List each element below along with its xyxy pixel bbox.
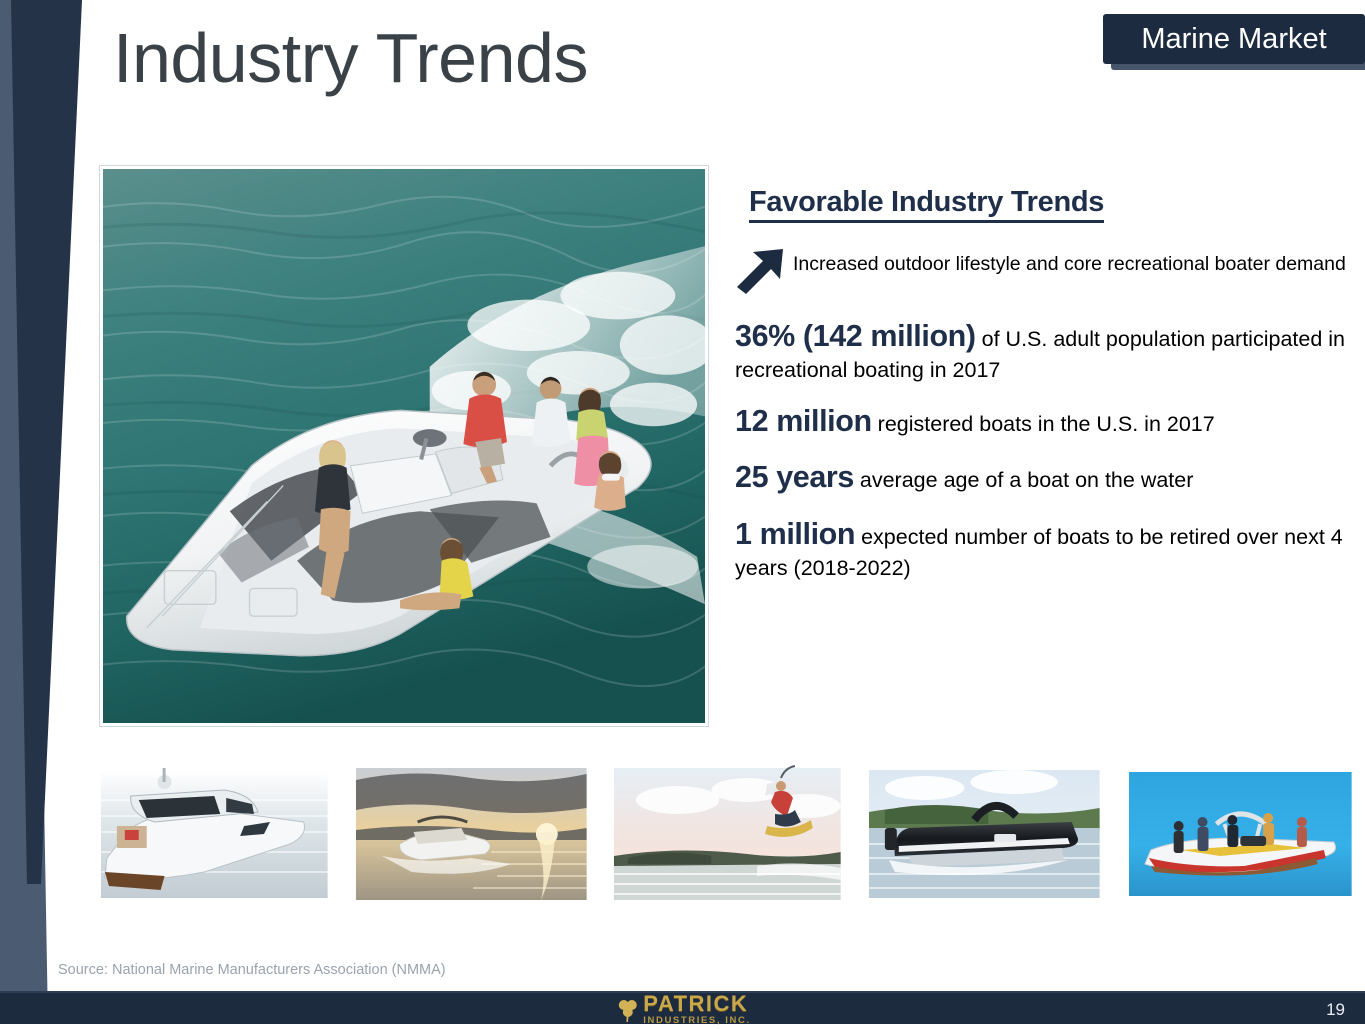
thumbnail-white-motor-yacht bbox=[95, 760, 334, 908]
marine-market-badge: Marine Market bbox=[1103, 14, 1365, 64]
stat-description: average age of a boat on the water bbox=[854, 468, 1193, 492]
logo-primary-text: PATRICK bbox=[643, 993, 750, 1015]
trend-callout: Increased outdoor lifestyle and core rec… bbox=[735, 245, 1360, 295]
stat-value: 12 million bbox=[735, 404, 872, 438]
footer-bar: PATRICK INDUSTRIES, INC. 19 bbox=[0, 991, 1365, 1024]
industry-trends-panel: Favorable Industry Trends Increased outd… bbox=[735, 186, 1360, 582]
shamrock-icon bbox=[614, 997, 640, 1023]
badge-label: Marine Market bbox=[1141, 25, 1326, 54]
stat-item: 25 years average age of a boat on the wa… bbox=[735, 458, 1360, 498]
arrow-up-right-icon bbox=[735, 247, 787, 295]
thumbnail-red-white-bowrider bbox=[1121, 760, 1360, 908]
stat-value: 1 million bbox=[735, 517, 855, 551]
patrick-industries-logo: PATRICK INDUSTRIES, INC. bbox=[614, 994, 750, 1025]
thumbnail-wakeboarder bbox=[608, 760, 847, 908]
stat-value: 36% (142 million) bbox=[735, 319, 976, 353]
source-note: Source: National Marine Manufacturers As… bbox=[58, 962, 446, 978]
page-number: 19 bbox=[1326, 1000, 1345, 1020]
thumbnail-boat-at-sunset bbox=[352, 760, 591, 908]
hero-image-deck-boat bbox=[100, 166, 708, 726]
badge-body: Marine Market bbox=[1103, 14, 1365, 64]
page-title: Industry Trends bbox=[113, 18, 588, 98]
thumbnail-black-pontoon-boat bbox=[865, 760, 1104, 908]
stat-item: 12 million registered boats in the U.S. … bbox=[735, 402, 1360, 442]
stat-description: registered boats in the U.S. in 2017 bbox=[872, 412, 1215, 436]
logo-secondary-text: INDUSTRIES, INC. bbox=[643, 1016, 750, 1026]
stat-value: 25 years bbox=[735, 460, 854, 494]
stat-item: 36% (142 million) of U.S. adult populati… bbox=[735, 317, 1360, 385]
stat-item: 1 million expected number of boats to be… bbox=[735, 515, 1360, 583]
thumbnail-strip bbox=[95, 760, 1360, 910]
trend-callout-text: Increased outdoor lifestyle and core rec… bbox=[793, 245, 1346, 277]
trends-heading: Favorable Industry Trends bbox=[749, 186, 1104, 223]
